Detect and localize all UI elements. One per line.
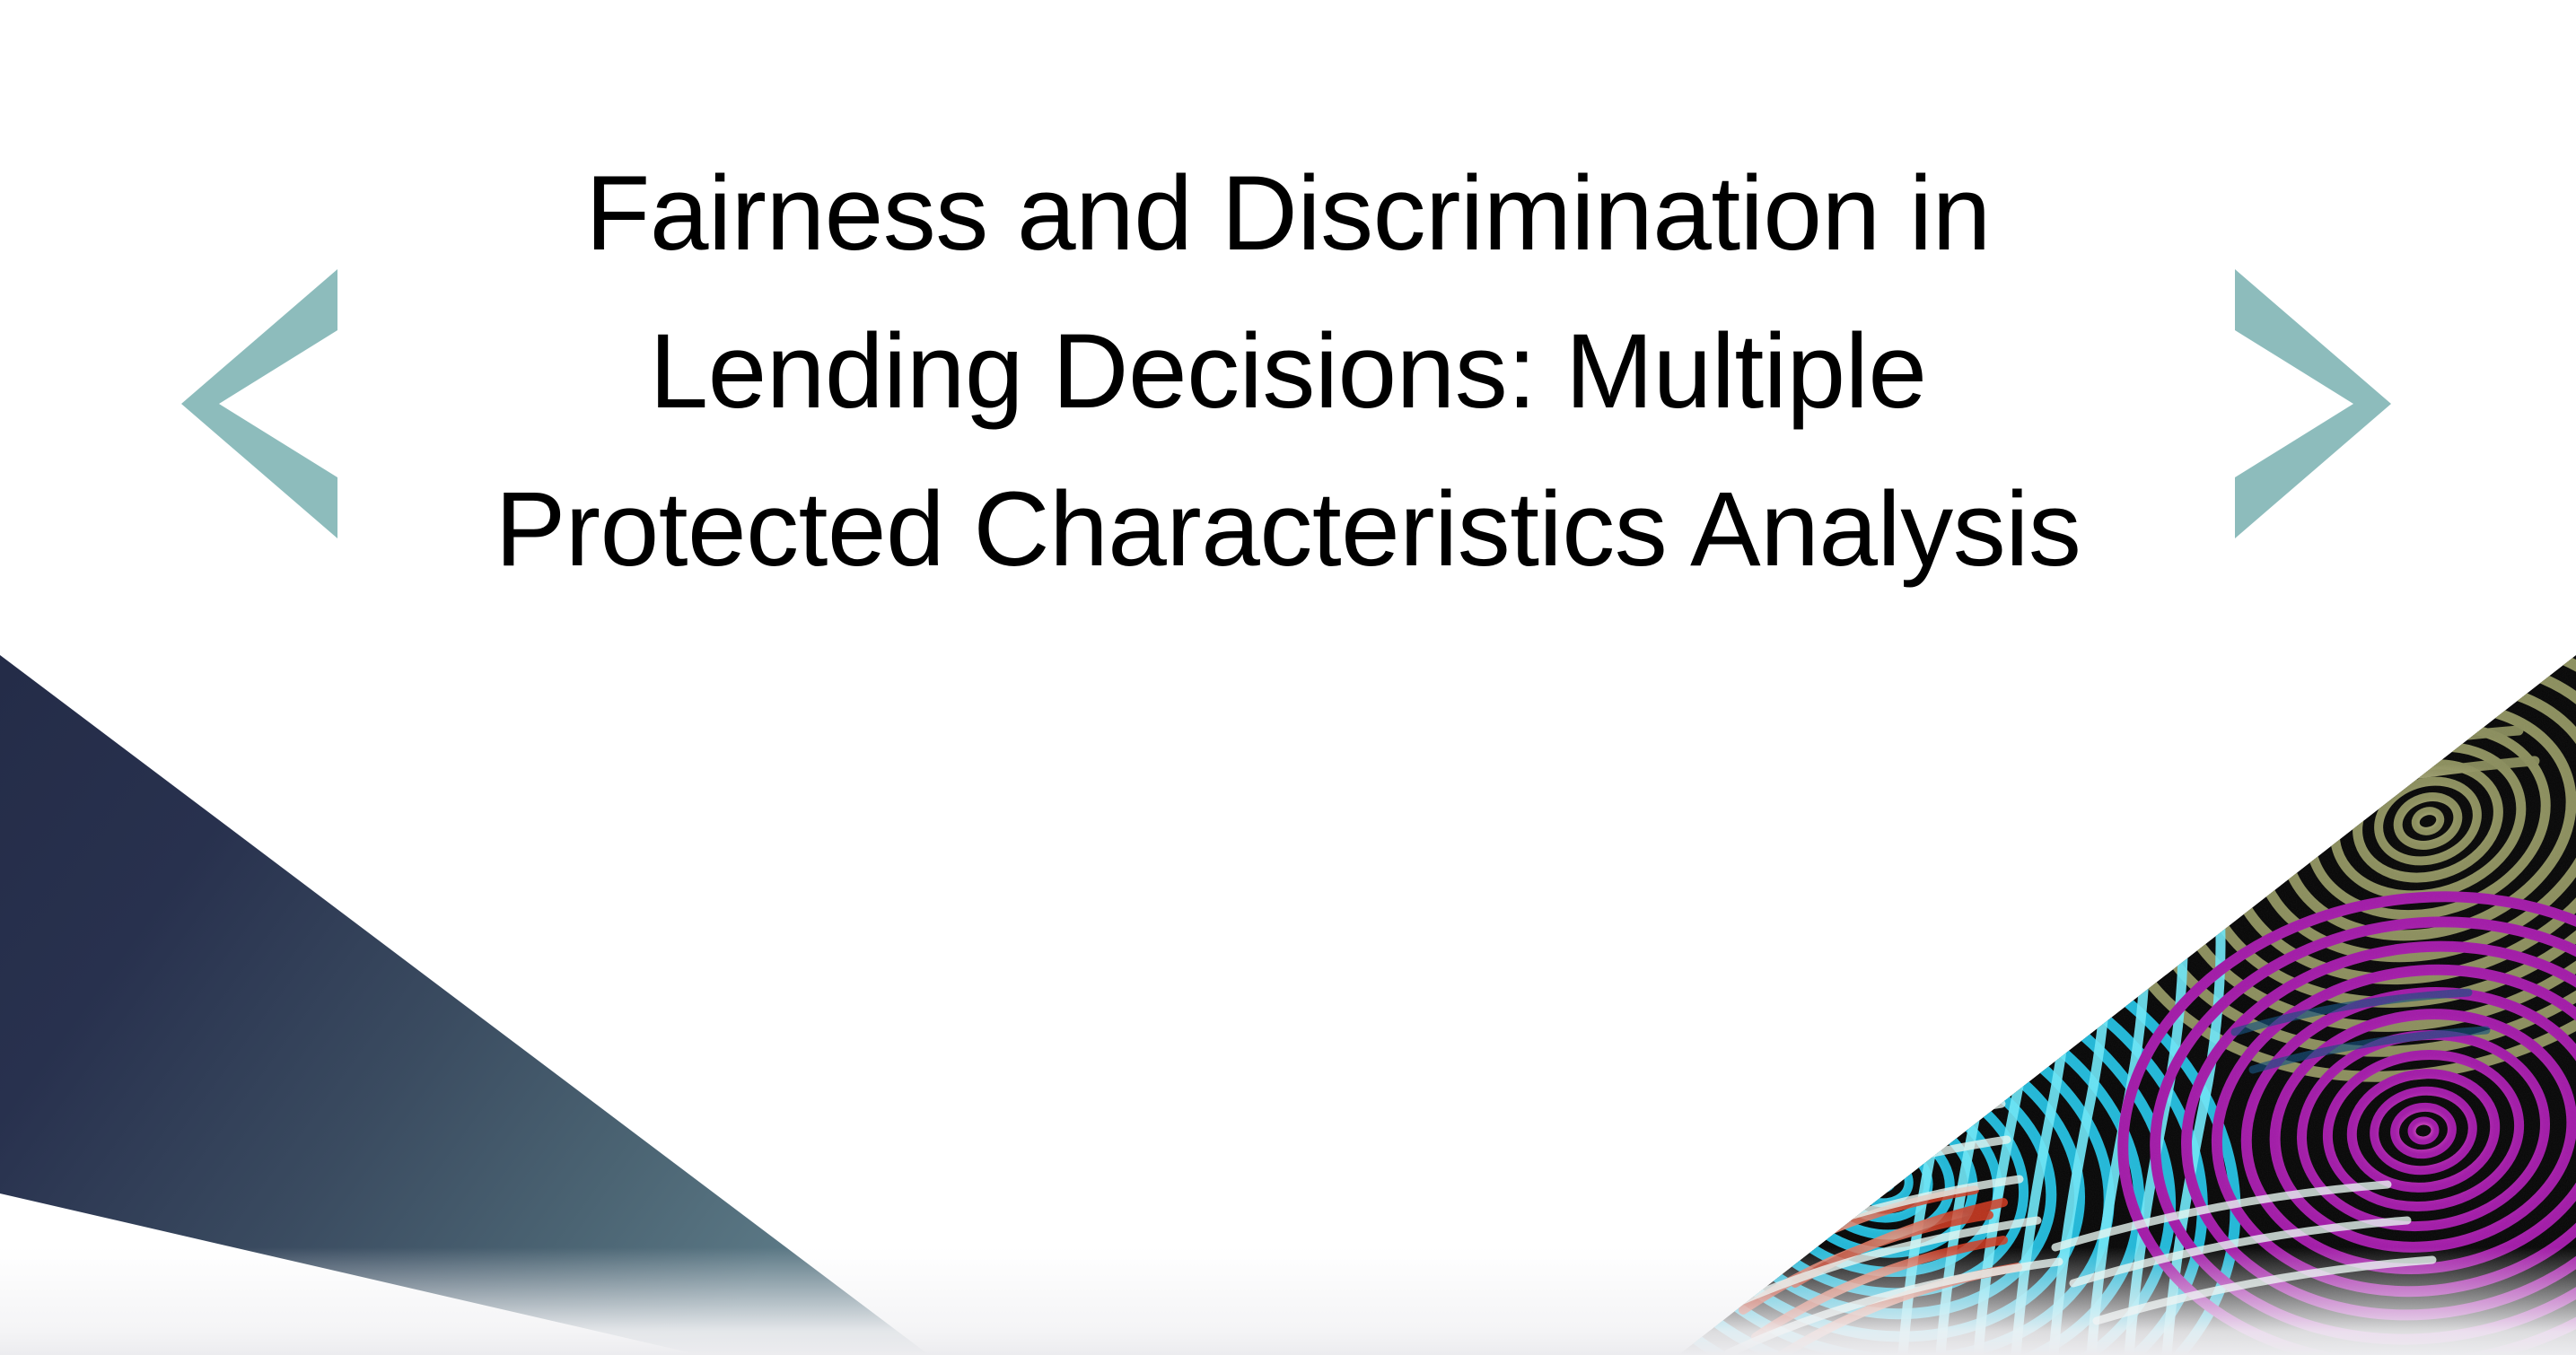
fingerprint-photo-decoration bbox=[1678, 655, 2576, 1355]
slide-title-line-3: Protected Characteristics Analysis bbox=[386, 450, 2190, 608]
slide-title-line-2: Lending Decisions: Multiple bbox=[386, 293, 2190, 450]
slide-title-line-1: Fairness and Discrimination in bbox=[386, 135, 2190, 293]
slide-title: Fairness and Discrimination in Lending D… bbox=[386, 135, 2190, 608]
next-slide-chevron-icon[interactable] bbox=[2235, 269, 2396, 538]
slide-bottom-edge-shading bbox=[0, 1247, 2576, 1355]
slide-stage: Fairness and Discrimination in Lending D… bbox=[0, 0, 2576, 1355]
previous-slide-chevron-icon[interactable] bbox=[176, 269, 337, 538]
